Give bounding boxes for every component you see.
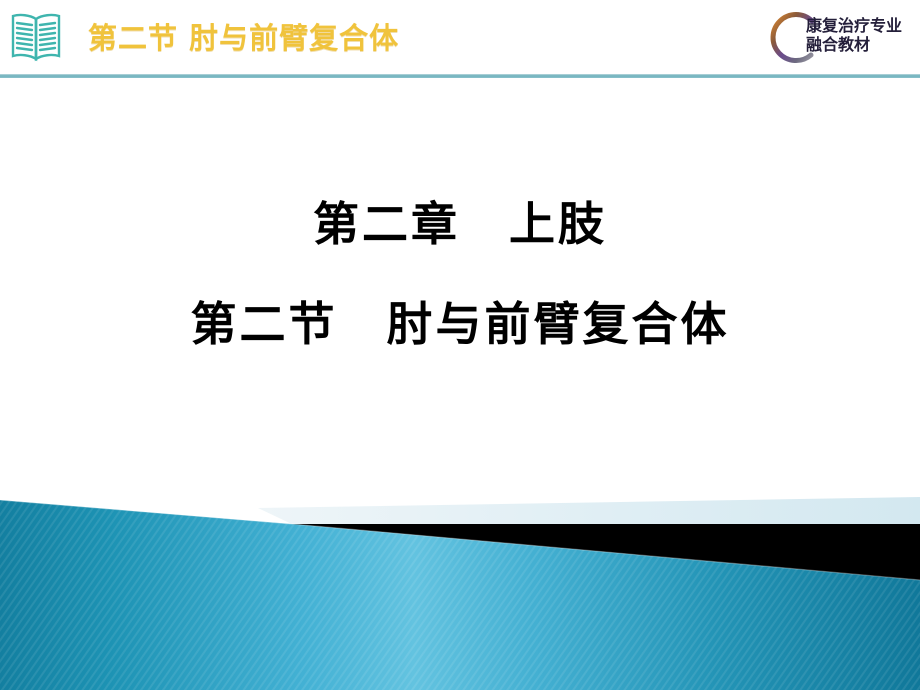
header-divider (0, 74, 920, 78)
header-title: 第二节 肘与前臂复合体 (88, 16, 399, 60)
brand-text-block: 康复治疗专业 融合教材 (806, 16, 912, 54)
slide-title-block: 第二章 上肢 第二节 肘与前臂复合体 (0, 188, 920, 360)
slide-header: 第二节 肘与前臂复合体 (0, 0, 920, 78)
section-title: 第二节 肘与前臂复合体 (0, 288, 920, 360)
brand-logo: 康复治疗专业 融合教材 (762, 4, 914, 72)
chapter-title: 第二章 上肢 (0, 188, 920, 260)
slide-canvas: 第二节 肘与前臂复合体 (0, 0, 920, 690)
bottom-decoration (0, 440, 920, 690)
open-book-icon (8, 10, 64, 64)
deco-pale-wedge (258, 497, 920, 528)
brand-line-1: 康复治疗专业 (806, 16, 912, 35)
brand-line-2: 融合教材 (806, 35, 912, 54)
